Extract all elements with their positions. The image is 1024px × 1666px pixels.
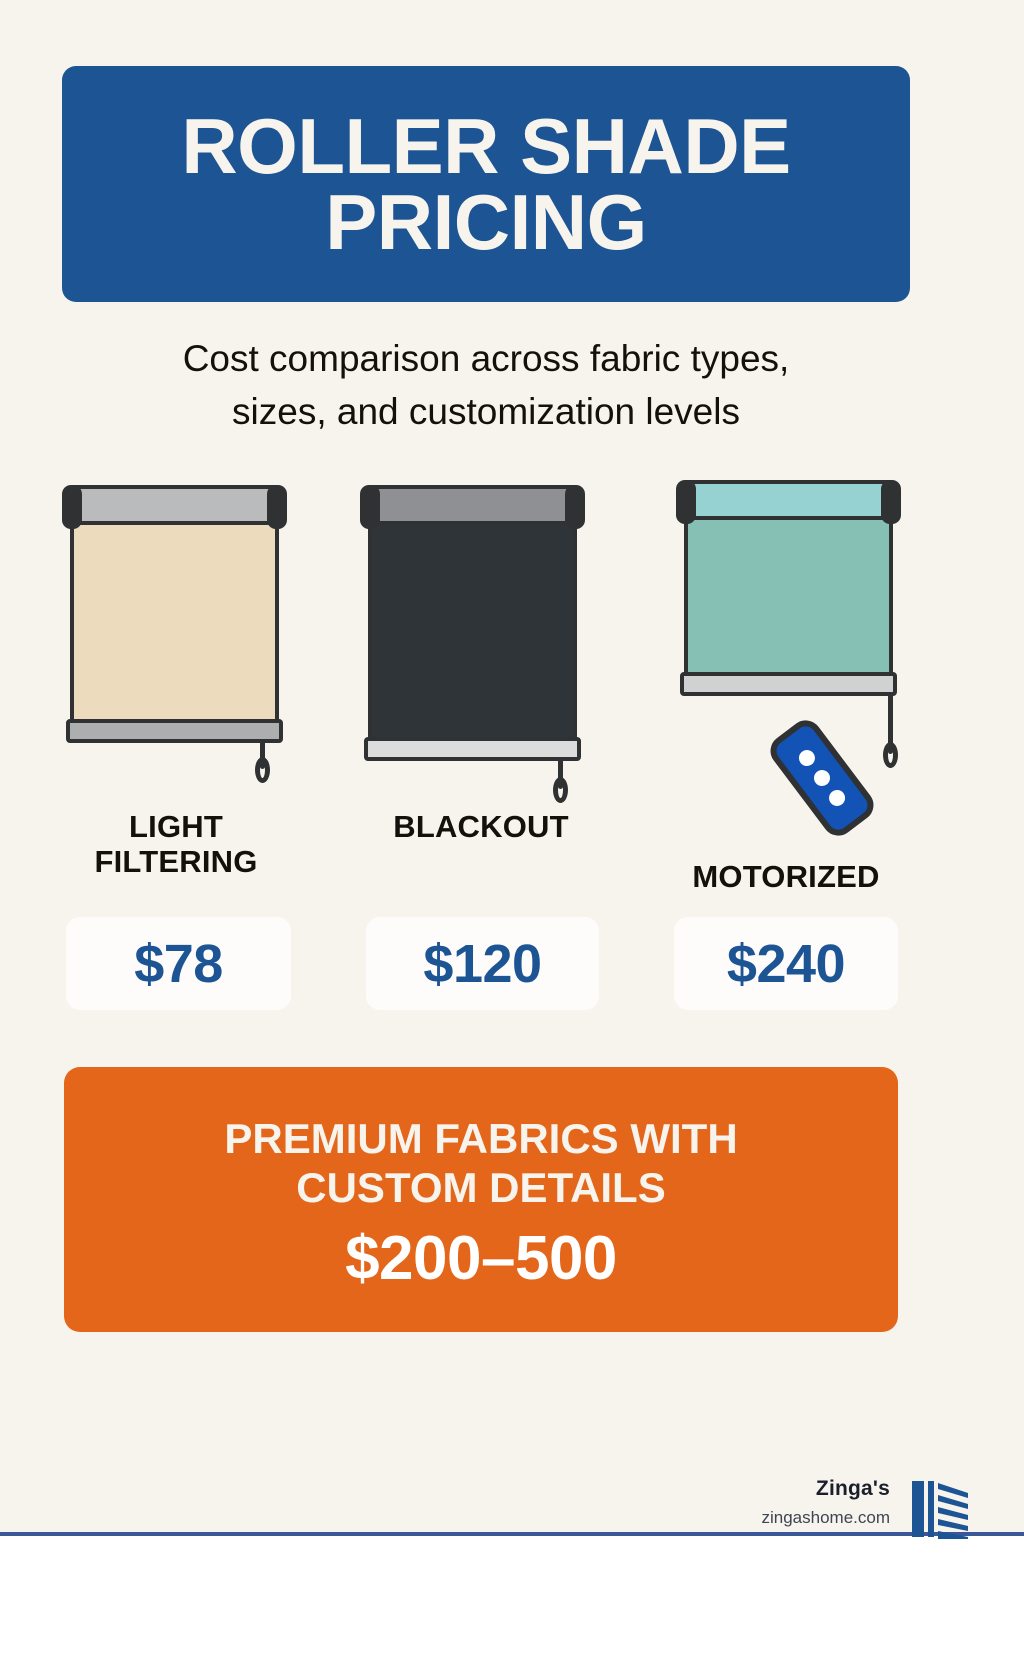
category-label-blackout: BLACKOUT: [362, 810, 600, 845]
headrail: [368, 485, 577, 525]
price-card-motorized: $240: [674, 917, 898, 1010]
brand-name: Zinga's: [761, 1477, 890, 1501]
bottom-rail: [66, 719, 283, 743]
bottom-rail: [364, 737, 581, 761]
brand-website[interactable]: zingashome.com: [761, 1508, 890, 1528]
shade-fabric: [368, 525, 577, 737]
brand-logo-icon: [904, 1473, 976, 1545]
page-title: ROLLER SHADE PRICING: [181, 108, 790, 261]
headrail-end-cap-left: [62, 485, 82, 529]
pull-cord-loop: [255, 757, 270, 783]
category-label-motorized: MOTORIZED: [668, 860, 904, 895]
pull-cord-loop: [553, 777, 568, 803]
premium-banner: PREMIUM FABRICS WITH CUSTOM DETAILS $200…: [64, 1067, 898, 1332]
brand-block: Zinga's zingashome.com: [761, 1477, 890, 1528]
premium-price-range: $200–500: [345, 1228, 617, 1290]
shade-blackout: [360, 483, 605, 761]
subtitle: Cost comparison across fabric types, siz…: [62, 333, 910, 438]
pull-cord-loop: [883, 742, 898, 768]
title-banner: ROLLER SHADE PRICING: [62, 66, 910, 302]
category-label-light-filtering: LIGHT FILTERING: [62, 810, 290, 879]
remote-button-down-icon[interactable]: [826, 787, 848, 809]
bottom-rail: [680, 672, 897, 696]
price-value: $78: [134, 933, 223, 995]
price-value: $120: [423, 933, 541, 995]
remote-button-up-icon[interactable]: [796, 747, 818, 769]
headrail: [684, 480, 893, 520]
remote-button-stop-icon[interactable]: [811, 767, 833, 789]
headrail-end-cap-right: [267, 485, 287, 529]
shade-motorized: [676, 478, 921, 696]
premium-headline: PREMIUM FABRICS WITH CUSTOM DETAILS: [224, 1115, 737, 1212]
price-card-blackout: $120: [366, 917, 599, 1010]
headrail-end-cap-right: [565, 485, 585, 529]
shade-fabric: [70, 525, 279, 719]
shade-light-filtering: [62, 483, 307, 743]
price-value: $240: [727, 933, 845, 995]
headrail-end-cap-right: [881, 480, 901, 524]
shade-fabric: [684, 520, 893, 672]
remote-control[interactable]: [764, 714, 880, 842]
headrail: [70, 485, 279, 525]
headrail-end-cap-left: [676, 480, 696, 524]
price-card-light-filtering: $78: [66, 917, 291, 1010]
shade-illustrations: [0, 478, 1024, 828]
footer: [0, 1536, 1024, 1666]
headrail-end-cap-left: [360, 485, 380, 529]
